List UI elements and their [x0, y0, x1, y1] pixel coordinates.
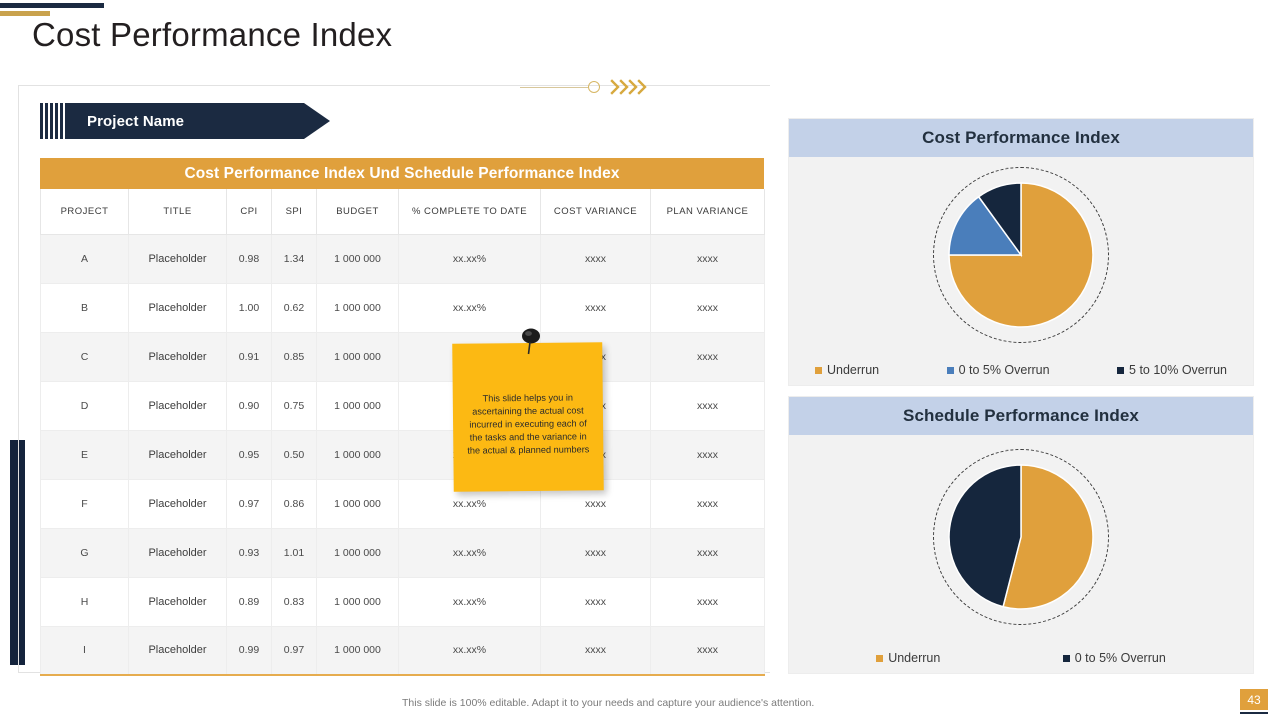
chart-body-spi: Underrun0 to 5% Overrun	[789, 435, 1253, 673]
cell-project: G	[41, 528, 129, 577]
slide-root: Cost Performance Index Project Name Cost…	[0, 0, 1280, 720]
cell-budget: 1 000 000	[317, 577, 399, 626]
cell-spi: 0.75	[272, 381, 317, 430]
table-row: BPlaceholder1.000.621 000 000xx.xx%xxxxx…	[41, 283, 765, 332]
cell-budget: 1 000 000	[317, 283, 399, 332]
col-header-pct-complete: % COMPLETE TO DATE	[399, 189, 541, 234]
cell-plan-variance: xxxx	[651, 577, 765, 626]
cell-cpi: 1.00	[227, 283, 272, 332]
legend-swatch-icon	[1117, 367, 1124, 374]
legend-label: 0 to 5% Overrun	[959, 363, 1050, 377]
chevrons-right-icon	[610, 78, 652, 96]
table-row: IPlaceholder0.990.971 000 000xx.xx%xxxxx…	[41, 626, 765, 675]
table-row: HPlaceholder0.890.831 000 000xx.xx%xxxxx…	[41, 577, 765, 626]
legend-swatch-icon	[815, 367, 822, 374]
table-row: FPlaceholder0.970.861 000 000xx.xx%xxxxx…	[41, 479, 765, 528]
cell-project: H	[41, 577, 129, 626]
legend-item: 0 to 5% Overrun	[947, 363, 1050, 377]
col-header-budget: BUDGET	[317, 189, 399, 234]
cell-plan-variance: xxxx	[651, 234, 765, 283]
chart-panel-cpi: Cost Performance Index Underrun0 to 5% O…	[788, 118, 1254, 386]
cell-title: Placeholder	[129, 283, 227, 332]
cell-cost-variance: xxxx	[541, 283, 651, 332]
chart-title-cpi: Cost Performance Index	[922, 128, 1120, 148]
legend-label: Underrun	[827, 363, 879, 377]
chart-title-spi: Schedule Performance Index	[903, 406, 1139, 426]
col-header-cost-variance: COST VARIANCE	[541, 189, 651, 234]
cell-cost-variance: xxxx	[541, 234, 651, 283]
table-body: APlaceholder0.981.341 000 000xx.xx%xxxxx…	[41, 234, 765, 675]
cell-cpi: 0.89	[227, 577, 272, 626]
cell-cost-variance: xxxx	[541, 577, 651, 626]
legend-swatch-icon	[876, 655, 883, 662]
cell-budget: 1 000 000	[317, 479, 399, 528]
col-header-project: PROJECT	[41, 189, 129, 234]
cell-budget: 1 000 000	[317, 430, 399, 479]
cell-plan-variance: xxxx	[651, 283, 765, 332]
cell-budget: 1 000 000	[317, 626, 399, 675]
cell-cpi: 0.97	[227, 479, 272, 528]
cell-title: Placeholder	[129, 479, 227, 528]
circle-icon	[588, 81, 600, 93]
cell-cost-variance: xxxx	[541, 626, 651, 675]
cell-plan-variance: xxxx	[651, 332, 765, 381]
cell-cpi: 0.93	[227, 528, 272, 577]
legend-label: 0 to 5% Overrun	[1075, 651, 1166, 665]
cell-pct-complete: xx.xx%	[399, 626, 541, 675]
chart-body-cpi: Underrun0 to 5% Overrun5 to 10% Overrun	[789, 157, 1253, 385]
cell-budget: 1 000 000	[317, 234, 399, 283]
cell-spi: 0.97	[272, 626, 317, 675]
table-row: DPlaceholder0.900.751 000 000xx.xx%xxxxx…	[41, 381, 765, 430]
legend-label: 5 to 10% Overrun	[1129, 363, 1227, 377]
chart-legend-cpi: Underrun0 to 5% Overrun5 to 10% Overrun	[789, 363, 1253, 377]
cell-title: Placeholder	[129, 577, 227, 626]
table-row: APlaceholder0.981.341 000 000xx.xx%xxxxx…	[41, 234, 765, 283]
sticky-note-text: This slide helps you in ascertaining the…	[453, 391, 604, 458]
footer-note: This slide is 100% editable. Adapt it to…	[402, 697, 814, 709]
cell-project: F	[41, 479, 129, 528]
cell-plan-variance: xxxx	[651, 479, 765, 528]
page-number-underline	[1240, 712, 1268, 714]
cell-spi: 0.62	[272, 283, 317, 332]
cell-title: Placeholder	[129, 626, 227, 675]
cell-cpi: 0.91	[227, 332, 272, 381]
cell-plan-variance: xxxx	[651, 430, 765, 479]
table-row: EPlaceholder0.950.501 000 000xx.xx%xxxxx…	[41, 430, 765, 479]
cell-cpi: 0.99	[227, 626, 272, 675]
cell-cpi: 0.98	[227, 234, 272, 283]
cell-pct-complete: xx.xx%	[399, 577, 541, 626]
cell-cpi: 0.95	[227, 430, 272, 479]
legend-item: Underrun	[815, 363, 879, 377]
cell-title: Placeholder	[129, 234, 227, 283]
legend-swatch-icon	[1063, 655, 1070, 662]
chart-legend-spi: Underrun0 to 5% Overrun	[789, 651, 1253, 665]
cell-cost-variance: xxxx	[541, 528, 651, 577]
legend-item: 5 to 10% Overrun	[1117, 363, 1227, 377]
cell-project: D	[41, 381, 129, 430]
page-number-badge: 43	[1240, 689, 1268, 710]
table-row: GPlaceholder0.931.011 000 000xx.xx%xxxxx…	[41, 528, 765, 577]
cell-spi: 0.85	[272, 332, 317, 381]
table-header-row: PROJECT TITLE CPI SPI BUDGET % COMPLETE …	[41, 189, 765, 234]
cell-budget: 1 000 000	[317, 528, 399, 577]
chart-title-spi-header: Schedule Performance Index	[789, 397, 1253, 435]
legend-item: 0 to 5% Overrun	[1063, 651, 1166, 665]
cell-pct-complete: xx.xx%	[399, 528, 541, 577]
cell-project: C	[41, 332, 129, 381]
table-title: Cost Performance Index Und Schedule Perf…	[40, 158, 764, 189]
performance-table: Cost Performance Index Und Schedule Perf…	[40, 158, 764, 676]
cell-project: E	[41, 430, 129, 479]
legend-swatch-icon	[947, 367, 954, 374]
cell-title: Placeholder	[129, 381, 227, 430]
sticky-note: This slide helps you in ascertaining the…	[452, 342, 604, 492]
cell-cpi: 0.90	[227, 381, 272, 430]
cell-spi: 1.01	[272, 528, 317, 577]
legend-item: Underrun	[876, 651, 940, 665]
col-header-cpi: CPI	[227, 189, 272, 234]
cell-budget: 1 000 000	[317, 381, 399, 430]
legend-label: Underrun	[888, 651, 940, 665]
page-title: Cost Performance Index	[32, 16, 392, 54]
pie-chart-cpi	[933, 167, 1109, 343]
cell-spi: 0.86	[272, 479, 317, 528]
col-header-title: TITLE	[129, 189, 227, 234]
cell-plan-variance: xxxx	[651, 528, 765, 577]
cell-spi: 1.34	[272, 234, 317, 283]
cell-title: Placeholder	[129, 528, 227, 577]
col-header-plan-variance: PLAN VARIANCE	[651, 189, 765, 234]
banner-stripes-icon	[40, 103, 62, 139]
cell-pct-complete: xx.xx%	[399, 234, 541, 283]
cell-title: Placeholder	[129, 332, 227, 381]
cell-project: I	[41, 626, 129, 675]
cell-spi: 0.50	[272, 430, 317, 479]
decorative-bar-dark	[0, 3, 104, 8]
cell-plan-variance: xxxx	[651, 626, 765, 675]
cell-project: B	[41, 283, 129, 332]
col-header-spi: SPI	[272, 189, 317, 234]
cell-pct-complete: xx.xx%	[399, 283, 541, 332]
cell-title: Placeholder	[129, 430, 227, 479]
chart-title-cpi-header: Cost Performance Index	[789, 119, 1253, 157]
pushpin-icon	[517, 327, 545, 357]
cell-project: A	[41, 234, 129, 283]
banner-label: Project Name	[65, 113, 184, 130]
decorative-line	[520, 87, 588, 88]
table-row: CPlaceholder0.910.851 000 000xx.xx%xxxxx…	[41, 332, 765, 381]
cell-plan-variance: xxxx	[651, 381, 765, 430]
cell-spi: 0.83	[272, 577, 317, 626]
chart-panel-spi: Schedule Performance Index Underrun0 to …	[788, 396, 1254, 674]
banner-body: Project Name	[65, 103, 330, 139]
pie-chart-spi	[933, 449, 1109, 625]
cell-budget: 1 000 000	[317, 332, 399, 381]
